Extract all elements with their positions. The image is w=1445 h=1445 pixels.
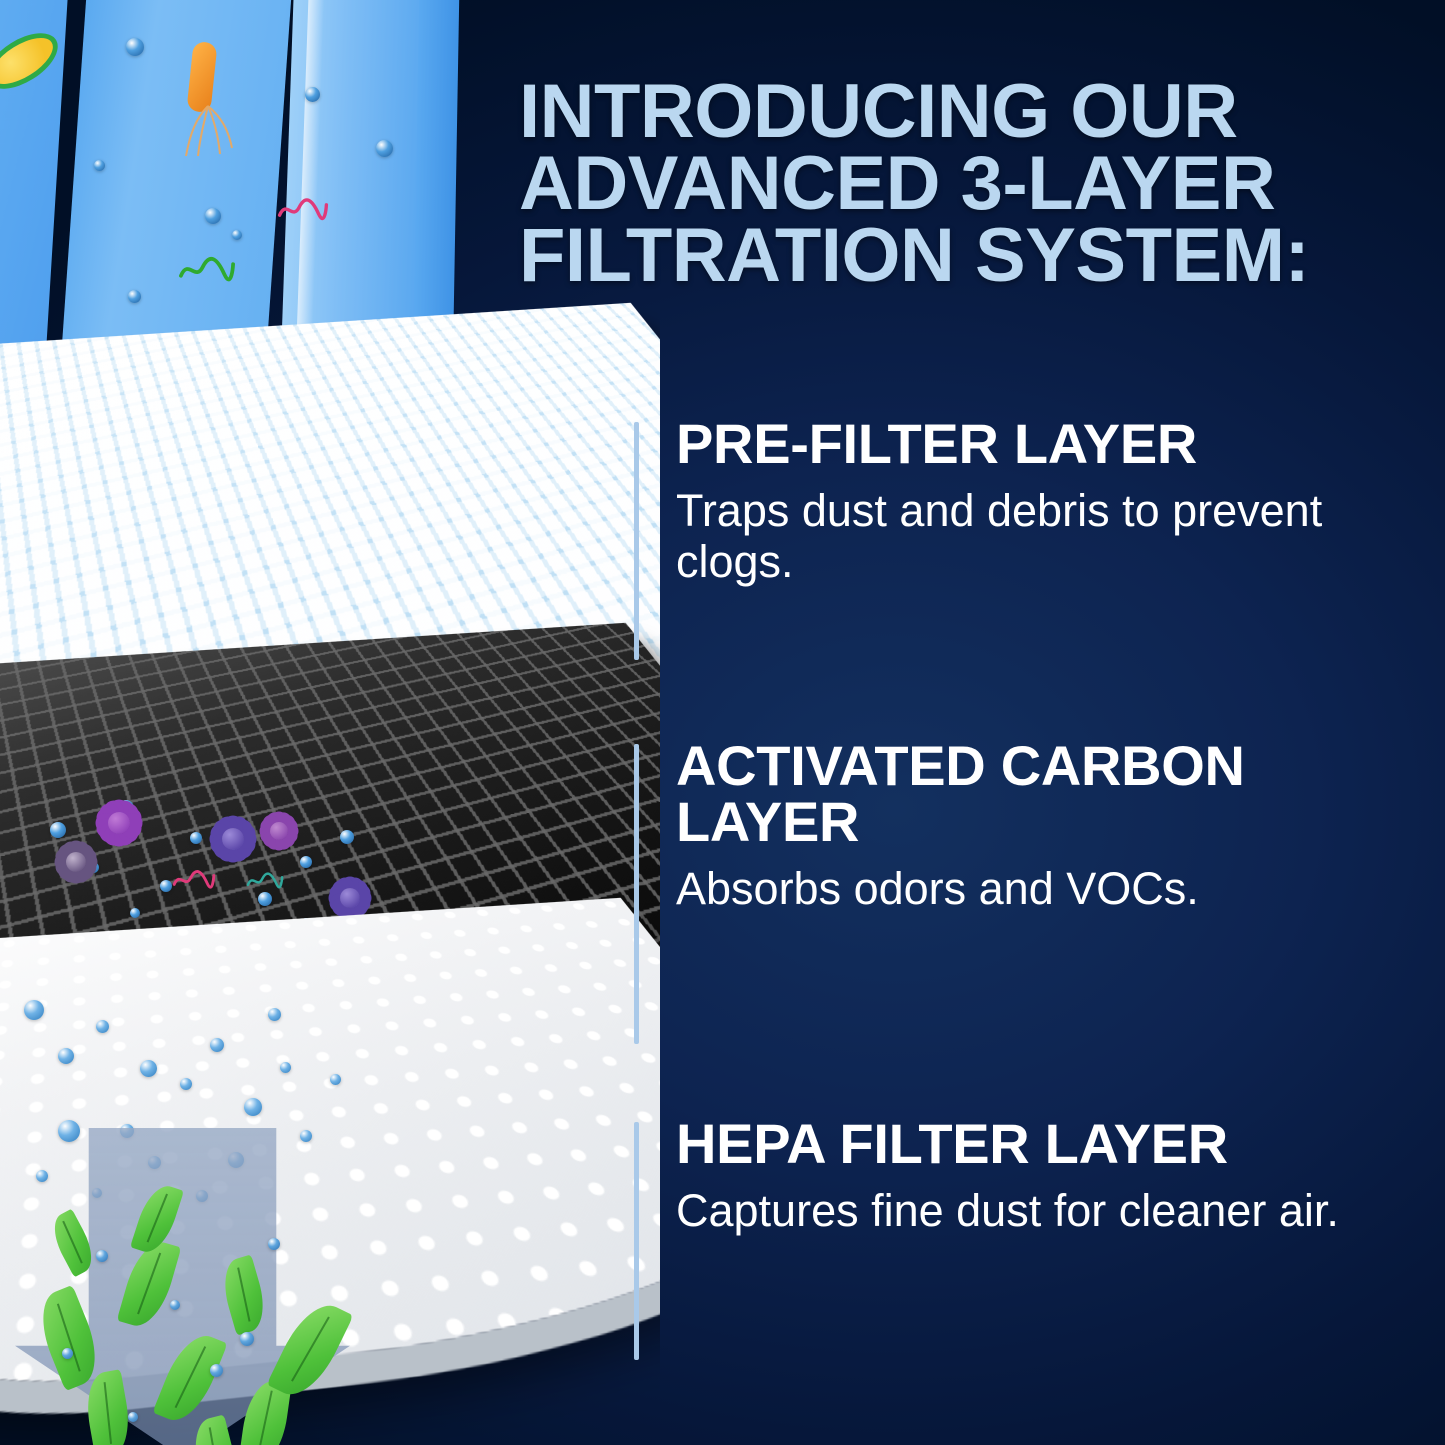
clean-air-bead-1 [96, 1250, 108, 1262]
hepa-droplet-12 [36, 1170, 48, 1182]
hepa-droplet-7 [180, 1078, 192, 1090]
layer-description-pre-filter: Traps dust and debris to prevent clogs. [676, 486, 1424, 588]
layer-block-activated-carbon: ACTIVATED CARBON LAYER Absorbs odors and… [634, 738, 1424, 1050]
carbon-trapped-dust-4 [300, 856, 312, 868]
hepa-droplet-14 [300, 1130, 312, 1142]
page-title-line-2: ADVANCED 3-LAYER [519, 148, 1389, 220]
carbon-trapped-pollen-1 [66, 852, 86, 872]
page-title-line-3: FILTRATION SYSTEM: [519, 220, 1389, 292]
carbon-trapped-dust-10 [88, 862, 99, 873]
hepa-droplet-5 [58, 1120, 80, 1142]
carbon-trapped-spore-2 [270, 822, 288, 840]
dust-particle-5 [376, 140, 393, 157]
leaf-vein [104, 1382, 112, 1444]
carbon-trapped-virus-2 [340, 888, 360, 908]
carbon-trapped-dust-7 [258, 892, 272, 906]
squiggle-microbe-green [178, 255, 236, 285]
dust-particle-8 [232, 230, 242, 240]
hepa-droplet-8 [210, 1038, 224, 1052]
layer-rule [634, 422, 639, 660]
layer-list: PRE-FILTER LAYER Traps dust and debris t… [634, 416, 1424, 1366]
layer-block-hepa-filter: HEPA FILTER LAYER Captures fine dust for… [634, 1116, 1424, 1366]
carbon-trapped-virus-1 [222, 828, 244, 850]
carbon-trapped-dust-12 [130, 908, 140, 918]
clean-air-bead-3 [62, 1348, 73, 1359]
carbon-trapped-dust-6 [50, 822, 66, 838]
infographic-canvas: INTRODUCING OUR ADVANCED 3-LAYER FILTRAT… [0, 0, 1445, 1445]
leaf-vein [291, 1317, 330, 1382]
leaf-vein [175, 1346, 207, 1408]
clean-air-bead-7 [240, 1332, 254, 1346]
dust-particle-4 [305, 87, 320, 102]
squiggle-microbe-pink [277, 196, 329, 224]
dust-particle-3 [128, 290, 141, 303]
leaf-vein [258, 1391, 273, 1445]
layer-title-pre-filter: PRE-FILTER LAYER [676, 416, 1424, 472]
page-title-line-1: INTRODUCING OUR [519, 76, 1389, 148]
carbon-trapped-dust-2 [190, 832, 202, 844]
page-title: INTRODUCING OUR ADVANCED 3-LAYER FILTRAT… [519, 76, 1389, 293]
hepa-droplet-4 [140, 1060, 157, 1077]
clean-air-bead-2 [170, 1300, 180, 1310]
hepa-droplet-2 [58, 1048, 74, 1064]
carbon-trapped-dust-5 [340, 830, 354, 844]
hepa-droplet-18 [330, 1074, 341, 1085]
clean-air-bead-4 [210, 1364, 223, 1377]
layer-title-hepa-filter: HEPA FILTER LAYER [676, 1116, 1424, 1172]
clean-air-bead-5 [128, 1412, 138, 1422]
layer-rule [634, 744, 639, 1044]
layer-title-activated-carbon: ACTIVATED CARBON LAYER [676, 738, 1424, 850]
carbon-trapped-squiggle-pink [172, 868, 216, 892]
layer-description-hepa-filter: Captures fine dust for cleaner air. [676, 1186, 1424, 1237]
carbon-trapped-spore-1 [108, 812, 130, 834]
hepa-droplet-17 [268, 1008, 281, 1021]
clean-air-bead-6 [268, 1238, 280, 1250]
leaf-vein [237, 1267, 250, 1321]
leaf-vein [63, 1221, 83, 1264]
leaf-vein [137, 1252, 161, 1314]
leaf-vein [57, 1303, 81, 1371]
carbon-trapped-dust-8 [160, 880, 172, 892]
hepa-droplet-1 [24, 1000, 44, 1020]
hepa-droplet-9 [244, 1098, 262, 1116]
dust-particle-2 [205, 208, 221, 224]
dust-particle-1 [126, 38, 144, 56]
hepa-droplet-10 [280, 1062, 291, 1073]
layer-rule [634, 1122, 639, 1360]
flagella [178, 104, 238, 159]
carbon-trapped-squiggle-teal [246, 870, 284, 892]
hepa-droplet-3 [96, 1020, 109, 1033]
layer-description-activated-carbon: Absorbs odors and VOCs. [676, 864, 1424, 915]
dust-particle-9 [94, 160, 105, 171]
leaf-vein [209, 1428, 221, 1445]
leaf-vein [147, 1194, 168, 1243]
layer-block-pre-filter: PRE-FILTER LAYER Traps dust and debris t… [634, 416, 1424, 666]
